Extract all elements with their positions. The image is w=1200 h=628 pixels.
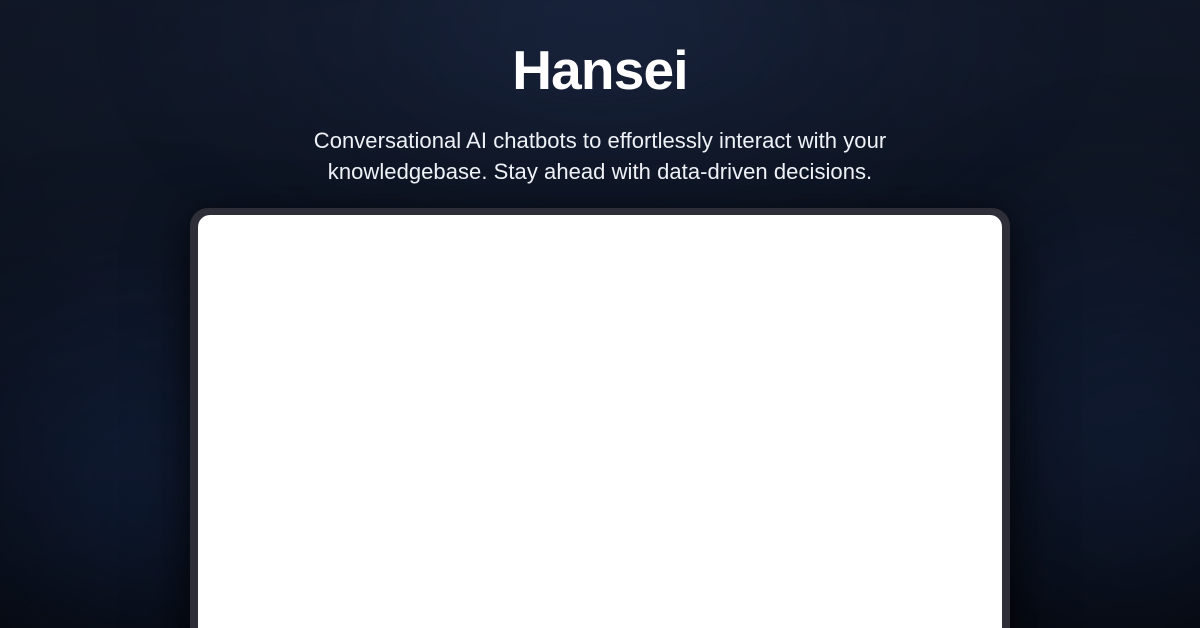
device-mockup [190, 208, 1010, 628]
hero-section: Hansei Conversational AI chatbots to eff… [0, 0, 1200, 187]
device-screen[interactable] [198, 215, 1002, 628]
app-screenshot-area [198, 215, 1002, 628]
page-root: Hansei Conversational AI chatbots to eff… [0, 0, 1200, 628]
hero-subtitle: Conversational AI chatbots to effortless… [250, 100, 950, 187]
device-frame [190, 208, 1010, 628]
page-title: Hansei [0, 0, 1200, 100]
